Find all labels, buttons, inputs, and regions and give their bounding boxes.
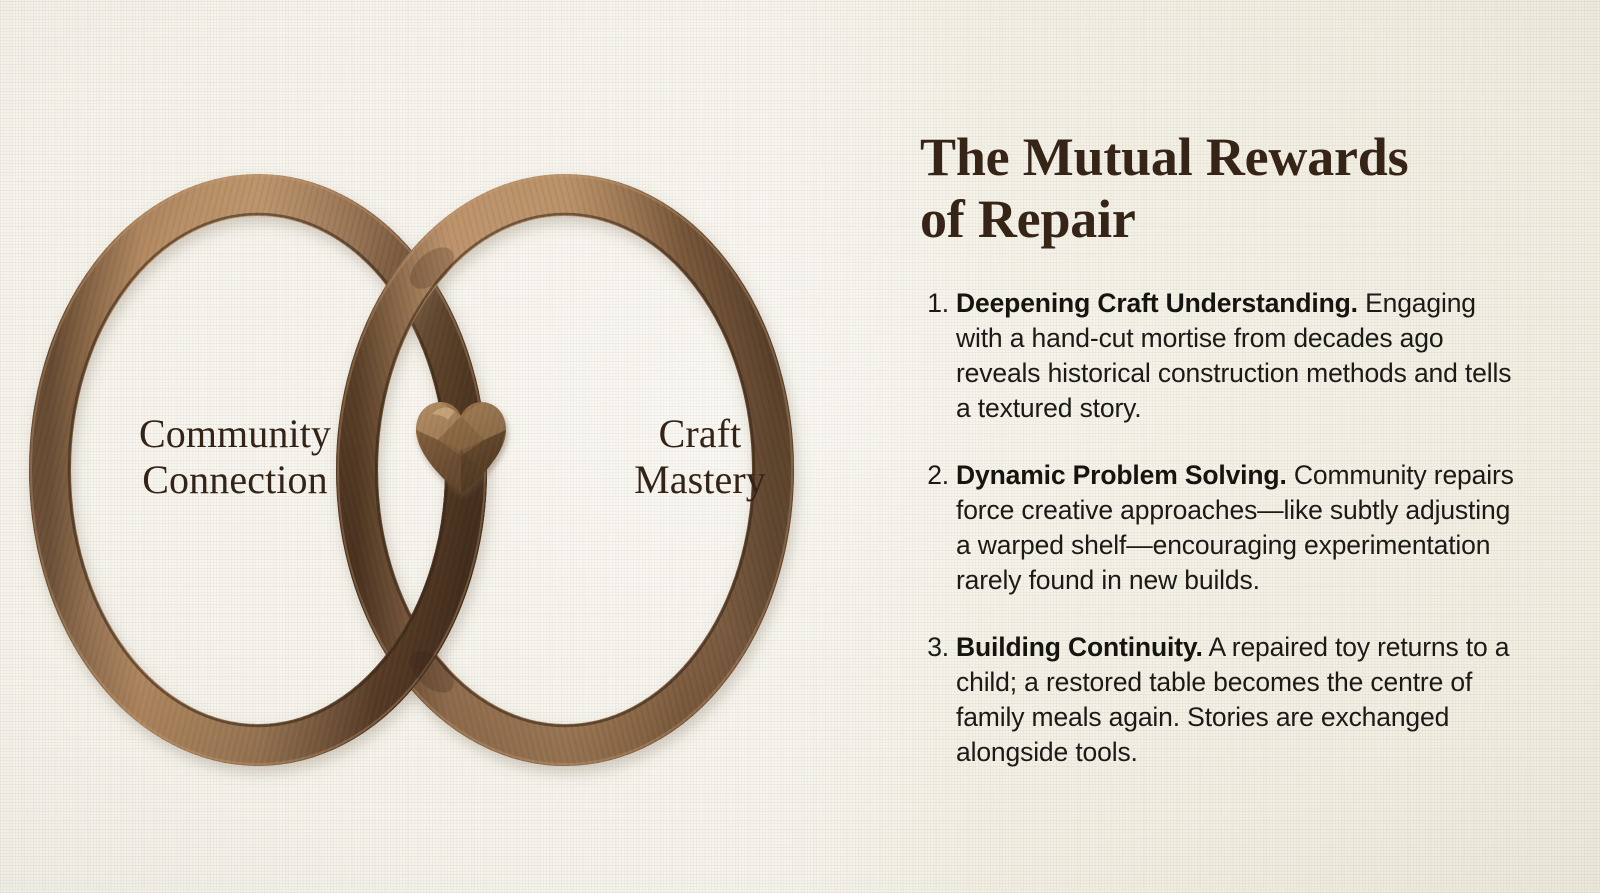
list-item-term: Dynamic Problem Solving. xyxy=(956,460,1287,490)
list-item-number: 2. xyxy=(919,458,949,493)
infographic-page: Community Connection Craft Mastery The M… xyxy=(0,0,1600,893)
list-item-number: 1. xyxy=(919,286,949,321)
list-item-term: Building Continuity. xyxy=(956,632,1203,662)
list-item: 1. Deepening Craft Understanding. Engagi… xyxy=(916,286,1516,426)
venn-diagram: Community Connection Craft Mastery xyxy=(0,0,900,893)
page-title: The Mutual Rewards of Repair xyxy=(920,126,1520,250)
rewards-list: 1. Deepening Craft Understanding. Engagi… xyxy=(916,286,1516,770)
content-column: The Mutual Rewards of Repair 1. Deepenin… xyxy=(916,0,1536,893)
list-item-number: 3. xyxy=(919,630,949,665)
list-item: 2. Dynamic Problem Solving. Community re… xyxy=(916,458,1516,598)
left-ring-label: Community Connection xyxy=(90,411,380,503)
list-item: 3. Building Continuity. A repaired toy r… xyxy=(916,630,1516,770)
list-item-term: Deepening Craft Understanding. xyxy=(956,288,1358,318)
right-ring-label: Craft Mastery xyxy=(575,411,825,503)
